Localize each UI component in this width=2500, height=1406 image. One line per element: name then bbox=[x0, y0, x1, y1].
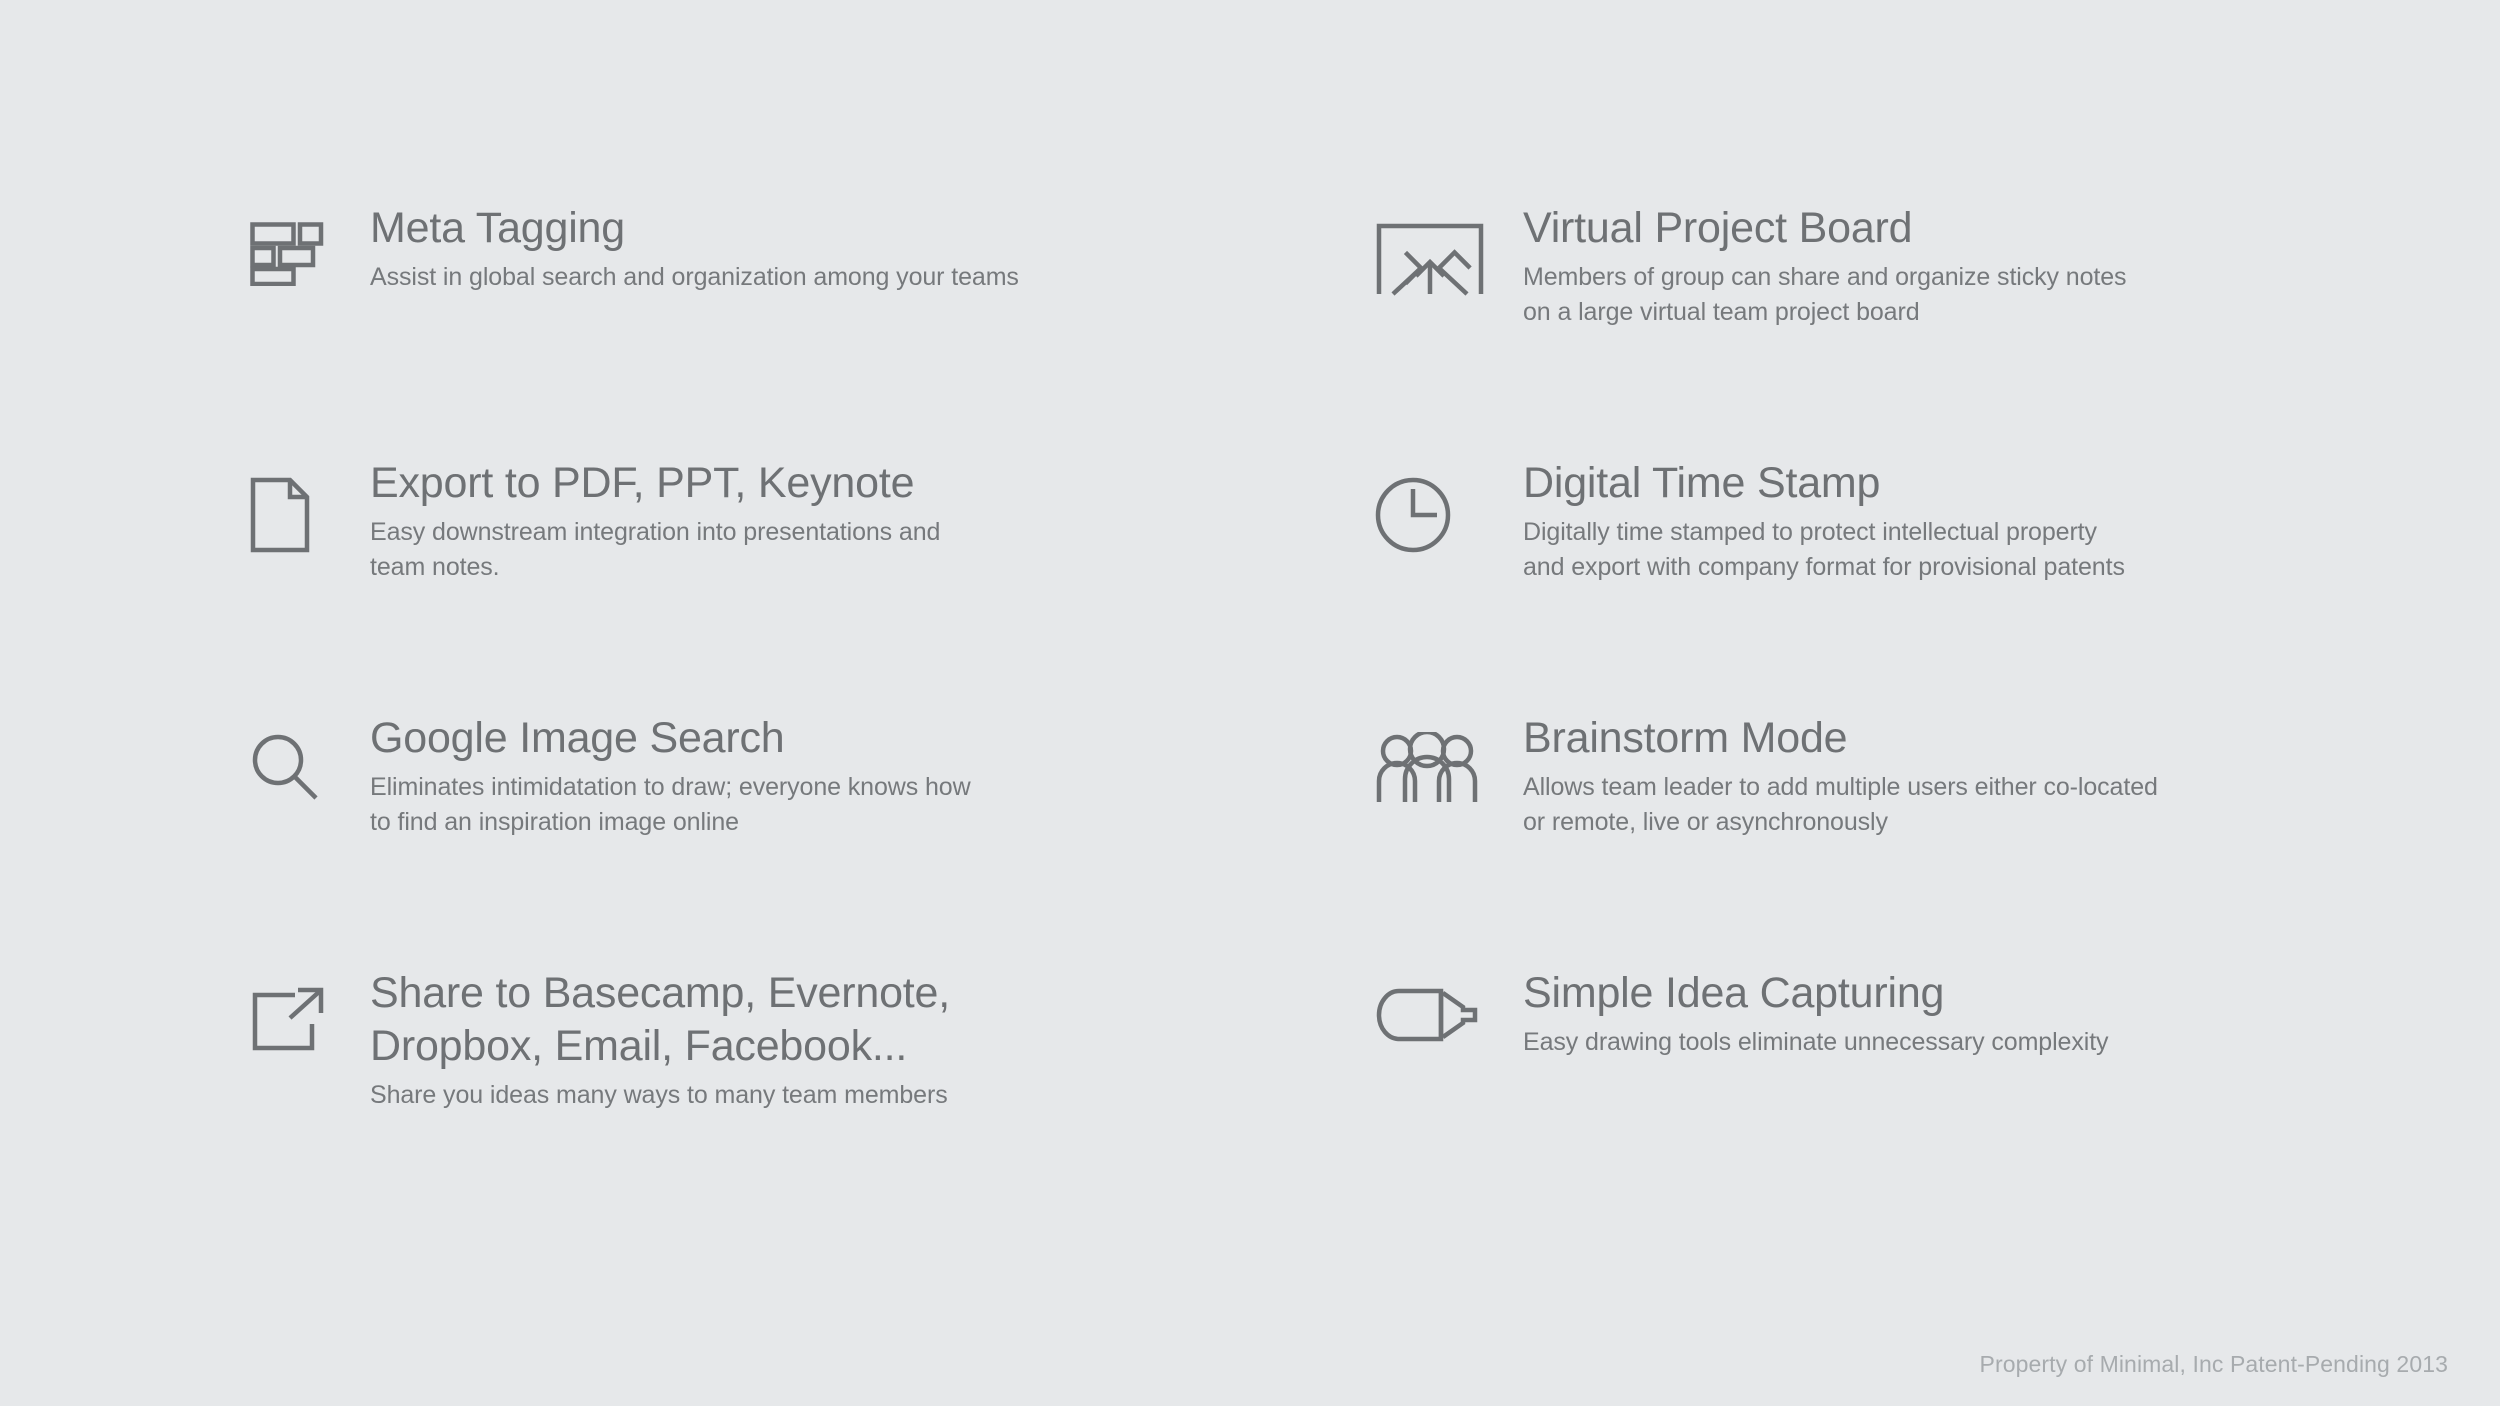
feature-simple-idea-capturing[interactable]: Simple Idea Capturing Easy drawing tools… bbox=[1375, 965, 2270, 1113]
feature-google-image-search[interactable]: Google Image Search Eliminates intimidat… bbox=[250, 710, 1375, 965]
features-grid: Meta Tagging Assist in global search and… bbox=[250, 200, 2270, 1113]
feature-description: Eliminates intimidatation to draw; every… bbox=[370, 770, 971, 840]
feature-description: Assist in global search and organization… bbox=[370, 260, 1019, 295]
feature-virtual-project-board[interactable]: Virtual Project Board Members of group c… bbox=[1375, 200, 2270, 455]
feature-text: Meta Tagging Assist in global search and… bbox=[370, 200, 1019, 295]
feature-text: Digital Time Stamp Digitally time stampe… bbox=[1523, 455, 2125, 585]
feature-digital-time-stamp[interactable]: Digital Time Stamp Digitally time stampe… bbox=[1375, 455, 2270, 710]
feature-share-services[interactable]: Share to Basecamp, Evernote, Dropbox, Em… bbox=[250, 965, 1375, 1113]
feature-text: Export to PDF, PPT, Keynote Easy downstr… bbox=[370, 455, 940, 585]
feature-text: Brainstorm Mode Allows team leader to ad… bbox=[1523, 710, 2158, 840]
feature-text: Google Image Search Eliminates intimidat… bbox=[370, 710, 971, 840]
marker-pen-icon bbox=[1375, 965, 1523, 1051]
people-group-icon bbox=[1375, 710, 1523, 796]
feature-meta-tagging[interactable]: Meta Tagging Assist in global search and… bbox=[250, 200, 1375, 455]
clock-icon bbox=[1375, 455, 1523, 541]
feature-title: Google Image Search bbox=[370, 712, 971, 765]
feature-title: Meta Tagging bbox=[370, 202, 1019, 255]
feature-title: Share to Basecamp, Evernote, Dropbox, Em… bbox=[370, 967, 950, 1073]
meta-tagging-blocks-icon bbox=[250, 200, 370, 286]
feature-description: Easy drawing tools eliminate unnecessary… bbox=[1523, 1025, 2108, 1060]
feature-text: Virtual Project Board Members of group c… bbox=[1523, 200, 2126, 330]
feature-description: Allows team leader to add multiple users… bbox=[1523, 770, 2158, 840]
feature-brainstorm-mode[interactable]: Brainstorm Mode Allows team leader to ad… bbox=[1375, 710, 2270, 965]
feature-description: Share you ideas many ways to many team m… bbox=[370, 1078, 950, 1113]
feature-text: Share to Basecamp, Evernote, Dropbox, Em… bbox=[370, 965, 950, 1113]
feature-description: Easy downstream integration into present… bbox=[370, 515, 940, 585]
feature-export-formats[interactable]: Export to PDF, PPT, Keynote Easy downstr… bbox=[250, 455, 1375, 710]
share-external-link-icon bbox=[250, 965, 370, 1051]
feature-description: Digitally time stamped to protect intell… bbox=[1523, 515, 2125, 585]
document-page-icon bbox=[250, 455, 370, 541]
feature-title: Digital Time Stamp bbox=[1523, 457, 2125, 510]
feature-text: Simple Idea Capturing Easy drawing tools… bbox=[1523, 965, 2108, 1060]
feature-title: Brainstorm Mode bbox=[1523, 712, 2158, 765]
footer-copyright: Property of Minimal, Inc Patent-Pending … bbox=[1980, 1351, 2449, 1378]
virtual-project-board-icon bbox=[1375, 200, 1523, 286]
feature-title: Simple Idea Capturing bbox=[1523, 967, 2108, 1020]
feature-title: Virtual Project Board bbox=[1523, 202, 2126, 255]
feature-description: Members of group can share and organize … bbox=[1523, 260, 2126, 330]
magnifier-search-icon bbox=[250, 710, 370, 796]
feature-title: Export to PDF, PPT, Keynote bbox=[370, 457, 940, 510]
